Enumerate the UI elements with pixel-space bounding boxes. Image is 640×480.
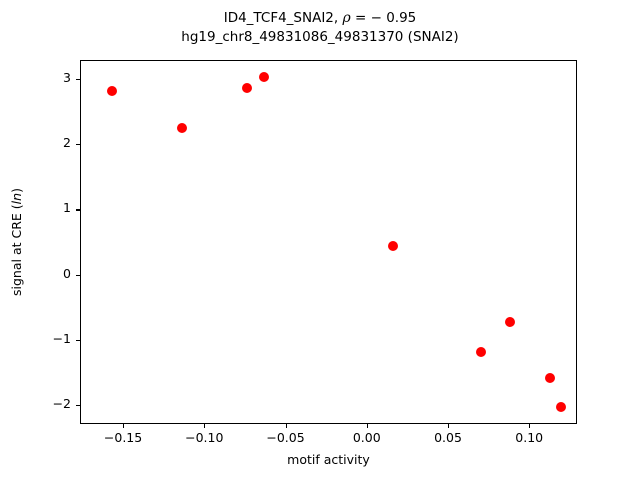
chart-title-motif: ID4_TCF4_SNAI2, <box>224 10 343 26</box>
chart-title-line-1: ID4_TCF4_SNAI2, ρ = − 0.95 <box>0 9 640 28</box>
plot-area <box>80 60 577 424</box>
y-axis-label-suffix: ) <box>9 188 24 193</box>
x-tick-mark <box>204 424 205 428</box>
x-axis-label: motif activity <box>80 452 577 467</box>
data-point <box>259 72 269 82</box>
x-tick-label: 0.05 <box>413 430 483 445</box>
scatter-plot-figure: ID4_TCF4_SNAI2, ρ = − 0.95 hg19_chr8_498… <box>0 0 640 480</box>
x-tick-label: −0.05 <box>251 430 321 445</box>
y-tick-mark <box>76 340 80 341</box>
x-tick-mark <box>367 424 368 428</box>
chart-title-correlation: = − 0.95 <box>351 10 417 26</box>
x-tick-label: −0.10 <box>169 430 239 445</box>
x-tick-label: −0.15 <box>88 430 158 445</box>
y-axis-label-prefix: signal at CRE ( <box>9 204 24 296</box>
y-axis-label-text: signal at CRE (ln) <box>9 60 27 424</box>
data-point <box>545 373 555 383</box>
data-point <box>505 317 515 327</box>
y-tick-mark <box>76 405 80 406</box>
y-tick-mark <box>76 144 80 145</box>
data-point <box>107 86 117 96</box>
x-tick-mark <box>123 424 124 428</box>
y-tick-mark <box>76 209 80 210</box>
data-point <box>242 83 252 93</box>
data-point <box>177 123 187 133</box>
y-axis-label: signal at CRE (ln) <box>0 60 36 424</box>
data-point <box>556 402 566 412</box>
data-point <box>476 347 486 357</box>
scatter-points-layer <box>81 61 576 423</box>
x-tick-mark <box>529 424 530 428</box>
x-tick-label: 0.10 <box>494 430 564 445</box>
x-tick-mark <box>286 424 287 428</box>
y-tick-mark <box>76 79 80 80</box>
x-tick-mark <box>448 424 449 428</box>
data-point <box>388 241 398 251</box>
y-axis-label-italic: ln <box>9 193 24 204</box>
x-tick-label: 0.00 <box>332 430 402 445</box>
chart-subtitle: hg19_chr8_49831086_49831370 (SNAI2) <box>0 28 640 47</box>
chart-title: ID4_TCF4_SNAI2, ρ = − 0.95 hg19_chr8_498… <box>0 9 640 47</box>
y-tick-mark <box>76 275 80 276</box>
rho-symbol: ρ <box>342 10 350 26</box>
